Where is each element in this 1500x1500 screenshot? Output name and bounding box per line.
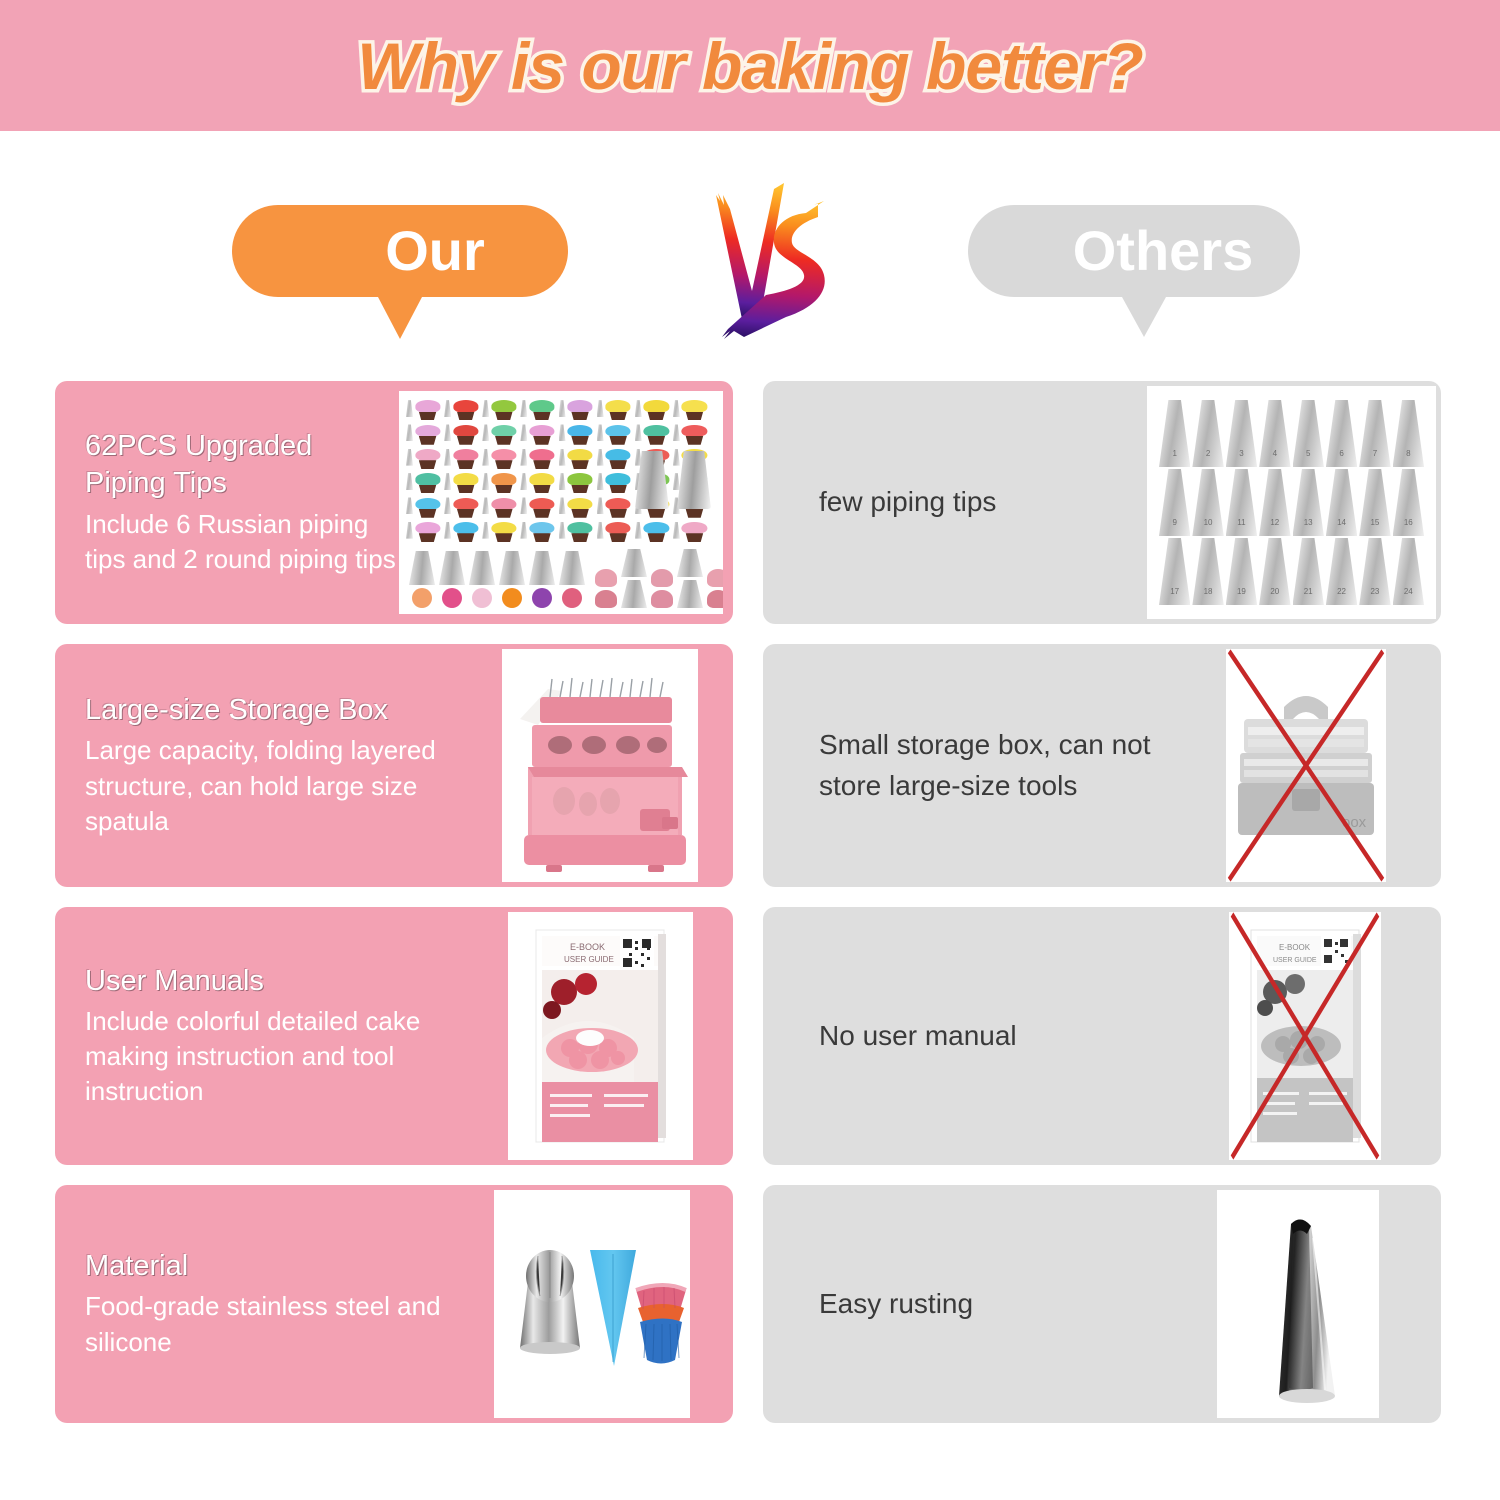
other-card-label: No user manual [793,1016,1229,1057]
grey-toolbox-illustration: oox [1226,649,1386,882]
comparison-row: User Manuals Include colorful detailed c… [0,907,1500,1165]
our-badge: Our [232,205,568,297]
page-title: Why is our baking better? [357,28,1142,104]
tip-number: 11 [1226,518,1257,527]
other-card-text: few piping tips [763,482,1147,523]
our-card-storage-box: Large-size Storage Box Large capacity, f… [55,644,733,887]
grey-storage-box-photo: oox [1226,649,1386,882]
rusted-piping-tip-photo [1217,1190,1379,1418]
tip-number: 9 [1159,518,1190,527]
pink-storage-box-photo [502,649,698,882]
cupcake-grid [409,399,713,544]
tip-number: 18 [1192,587,1223,596]
tip-number: 4 [1259,449,1290,458]
tip-number: 8 [1393,449,1424,458]
comparison-grid: 62PCS Upgraded Piping Tips Include 6 Rus… [0,381,1500,1443]
cupcakes-and-piping-tips-photo [399,391,723,614]
tip-number: 13 [1293,518,1324,527]
tip-number: 24 [1393,587,1424,596]
other-card-label: Small storage box, can not store large-s… [793,725,1226,806]
booklet-brand: E-BOOK [570,942,605,952]
tip-number: 20 [1259,587,1290,596]
our-card-text: User Manuals Include colorful detailed c… [55,963,508,1109]
our-card-body: Include 6 Russian piping tips and 2 roun… [85,507,399,577]
tip-number: 21 [1293,587,1324,596]
our-card-text: Material Food-grade stainless steel and … [55,1248,494,1359]
booklet-illustration: E-BOOK USER GUIDE [508,912,693,1160]
rusted-tip-illustration [1217,1190,1379,1418]
our-card-piping-tips: 62PCS Upgraded Piping Tips Include 6 Rus… [55,381,733,624]
numbered-tips-grid: 1 2 3 4 5 6 7 8 9 10 11 12 13 14 15 16 1 [1159,400,1424,605]
tip-number: 12 [1259,518,1290,527]
other-card-user-manual: No user manual E-BOOK USER GUIDE [763,907,1441,1165]
tip-number: 10 [1192,518,1223,527]
other-card-text: No user manual [763,1016,1229,1057]
tip-number: 22 [1326,587,1357,596]
numbered-piping-tips-photo: 1 2 3 4 5 6 7 8 9 10 11 12 13 14 15 16 1 [1147,386,1436,619]
tip-number: 5 [1293,449,1324,458]
tips-and-flowers-strip [409,546,713,608]
comparison-header: Our Others [0,131,1500,381]
tip-number: 7 [1359,449,1390,458]
header-banner: Why is our baking better? [0,0,1500,131]
others-badge-label: Others [1015,223,1254,279]
comparison-row: Large-size Storage Box Large capacity, f… [0,644,1500,887]
booklet-brand: E-BOOK [1279,943,1311,952]
tip-number: 6 [1326,449,1357,458]
tip-number: 3 [1226,449,1257,458]
our-card-title: Material [85,1248,494,1285]
comparison-row: Material Food-grade stainless steel and … [0,1185,1500,1423]
our-card-material: Material Food-grade stainless steel and … [55,1185,733,1423]
steel-tip-silicone-bag-liners-photo [494,1190,690,1418]
pink-toolbox-illustration [502,649,698,882]
our-card-body: Include colorful detailed cake making in… [85,1004,508,1109]
comparison-row: 62PCS Upgraded Piping Tips Include 6 Rus… [0,381,1500,624]
our-card-title: User Manuals [85,963,508,1000]
tip-number: 14 [1326,518,1357,527]
our-card-body: Large capacity, folding layered structur… [85,733,502,838]
others-arrow-down-icon [1122,297,1166,337]
our-arrow-down-icon [378,297,422,339]
our-card-text: 62PCS Upgraded Piping Tips Include 6 Rus… [55,428,399,576]
booklet-subtitle: USER GUIDE [1273,957,1317,964]
others-badge: Others [968,205,1300,297]
tip-number: 16 [1393,518,1424,527]
tip-number: 2 [1192,449,1223,458]
other-card-piping-tips: few piping tips 1 2 3 4 5 6 7 8 9 10 11 … [763,381,1441,624]
svg-text:oox: oox [1342,814,1367,831]
tip-number: 15 [1359,518,1390,527]
our-card-title: Large-size Storage Box [85,692,502,729]
our-card-text: Large-size Storage Box Large capacity, f… [55,692,502,838]
other-card-storage-box: Small storage box, can not store large-s… [763,644,1441,887]
tip-number: 23 [1359,587,1390,596]
our-badge-label: Our [315,223,485,279]
other-card-label: few piping tips [793,482,1147,523]
our-card-user-manuals: User Manuals Include colorful detailed c… [55,907,733,1165]
other-card-text: Easy rusting [763,1284,1217,1325]
other-card-material: Easy rusting [763,1185,1441,1423]
other-card-text: Small storage box, can not store large-s… [763,725,1226,806]
greyscale-booklet-illustration: E-BOOK USER GUIDE [1229,912,1381,1160]
material-items-illustration [494,1190,690,1418]
other-card-label: Easy rusting [793,1284,1217,1325]
greyscale-user-guide-booklet-photo: E-BOOK USER GUIDE [1229,912,1381,1160]
tip-number: 17 [1159,587,1190,596]
user-guide-booklet-photo: E-BOOK USER GUIDE [508,912,693,1160]
tip-number: 1 [1159,449,1190,458]
our-card-title: 62PCS Upgraded Piping Tips [85,428,399,502]
booklet-subtitle: USER GUIDE [564,955,614,964]
vs-logo-icon [700,179,850,349]
our-card-body: Food-grade stainless steel and silicone [85,1289,494,1359]
tip-number: 19 [1226,587,1257,596]
